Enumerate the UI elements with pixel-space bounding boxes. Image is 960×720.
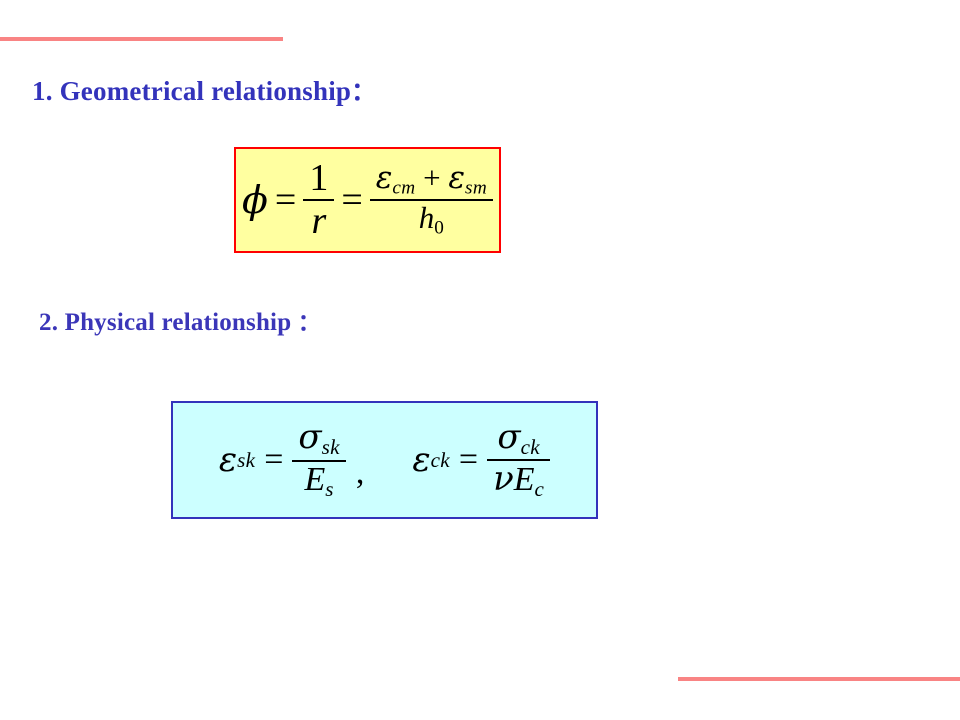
subscript-zero: 0 <box>434 217 444 238</box>
formula-box-geometric: ϕ = 1 r = εcm + εsm h0 <box>234 147 501 253</box>
fraction-one-over-r: 1 r <box>303 159 334 241</box>
formula-box-physical: εsk = σsk Es , εck = σck <box>171 401 598 519</box>
fraction-denominator-r: r <box>305 201 332 241</box>
section-heading-physical: 2. Physical relationship ： <box>39 303 321 337</box>
symbol-sigma-sk: σ <box>298 417 321 457</box>
subscript-s: s <box>325 476 334 500</box>
subscript-sk-num: sk <box>322 435 340 459</box>
symbol-E-c: E <box>514 461 535 498</box>
equation-curvature: ϕ = 1 r = εcm + εsm h0 <box>242 159 493 241</box>
bottom-accent-rule <box>678 677 960 681</box>
fraction-strain-sum-over-h0: εcm + εsm h0 <box>370 162 493 238</box>
heading-2-colon: ： <box>298 310 321 335</box>
subscript-c: c <box>535 477 545 501</box>
fraction-numerator-one: 1 <box>303 159 334 199</box>
fraction-numerator-sigma-sk: σsk <box>292 420 345 459</box>
symbol-epsilon-ck: ε <box>412 440 430 480</box>
heading-1-number: 1. <box>32 76 53 106</box>
section-heading-geometrical: 1. Geometrical relationship： <box>32 72 376 108</box>
symbol-epsilon-sk: ε <box>219 440 237 480</box>
fraction-sigma-ck-over-nuEc: σck νEc <box>487 420 550 501</box>
symbol-epsilon-cm: ε <box>376 160 393 196</box>
subscript-sk-lhs: sk <box>237 448 255 473</box>
plus-sign: + <box>423 162 440 194</box>
equals-sign-1: = <box>268 178 303 222</box>
subscript-sm: sm <box>465 177 487 198</box>
subscript-ck-lhs: ck <box>431 448 450 473</box>
top-accent-rule <box>0 37 283 41</box>
symbol-nu: ν <box>493 459 514 499</box>
equals-sign-right: = <box>450 441 487 479</box>
heading-1-colon: ： <box>351 79 376 106</box>
equals-sign-left: = <box>255 441 292 479</box>
heading-2-number: 2. <box>39 309 58 336</box>
heading-2-text: Physical relationship <box>65 309 292 336</box>
slide-canvas: 1. Geometrical relationship： ϕ = 1 r = ε… <box>0 0 960 720</box>
equation-separator-comma: , <box>346 454 369 492</box>
fraction-numerator-sigma-ck: σck <box>491 420 546 459</box>
subscript-cm: cm <box>392 177 415 198</box>
symbol-sigma-ck: σ <box>497 417 520 457</box>
symbol-phi: ϕ <box>242 178 268 222</box>
fraction-denominator-h0: h0 <box>413 201 450 238</box>
fraction-denominator-Es: Es <box>298 462 339 500</box>
fraction-sigma-sk-over-Es: σsk Es <box>292 420 345 500</box>
subscript-ck-num: ck <box>521 435 540 459</box>
symbol-epsilon-sm: ε <box>448 160 465 196</box>
symbol-h: h <box>419 200 435 235</box>
equation-stress-strain: εsk = σsk Es , εck = σck <box>219 420 550 501</box>
fraction-numerator-strain-sum: εcm + εsm <box>370 162 493 199</box>
equals-sign-2: = <box>334 178 369 222</box>
symbol-E-s: E <box>304 461 325 498</box>
fraction-denominator-nu-Ec: νEc <box>487 461 550 500</box>
heading-1-text: Geometrical relationship <box>60 76 352 106</box>
